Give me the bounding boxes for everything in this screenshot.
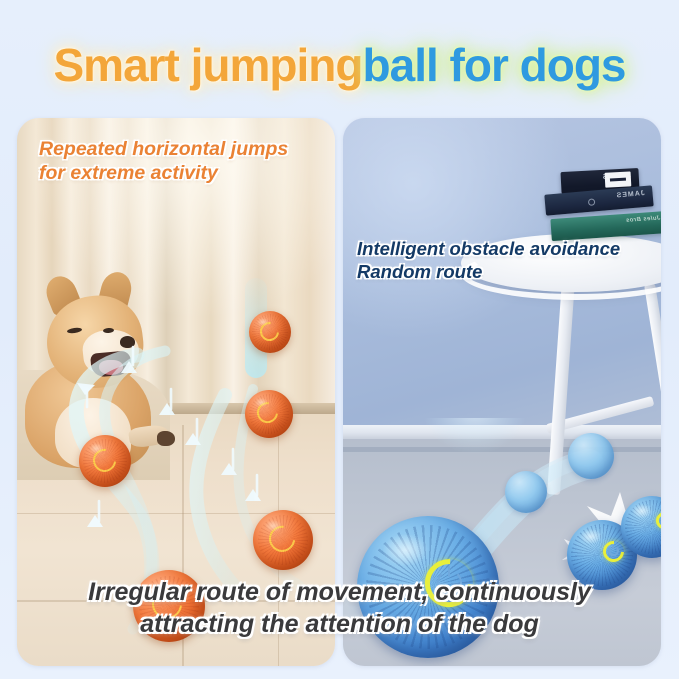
right-panel-caption: Intelligent obstacle avoidance Random ro… (357, 238, 620, 283)
left-panel-caption: Repeated horizontal jumps for extreme ac… (39, 138, 288, 186)
book-cover-graphic-icon (605, 171, 632, 187)
dog-nose (120, 336, 135, 348)
orange-ball (249, 311, 291, 353)
blue-ball-small (505, 471, 547, 513)
page-title: Smart jumpingball for dogs (0, 30, 679, 100)
blue-room-baseboard (343, 425, 661, 439)
title-part-orange: Smart jumping (53, 39, 362, 91)
orange-ball (253, 510, 313, 570)
book-title: JAMES (615, 190, 645, 200)
bottom-caption: Irregular route of movement, continuousl… (0, 576, 679, 640)
dog-tongue (99, 360, 123, 375)
title-part-blue: ball for dogs (363, 39, 626, 91)
book-title: Jules Bros (626, 215, 661, 223)
dog-paw-tip (157, 431, 175, 446)
orange-ball (79, 435, 131, 487)
book-cover-dot-icon (588, 198, 596, 206)
orange-ball (245, 390, 293, 438)
blue-ball-small (568, 433, 614, 479)
